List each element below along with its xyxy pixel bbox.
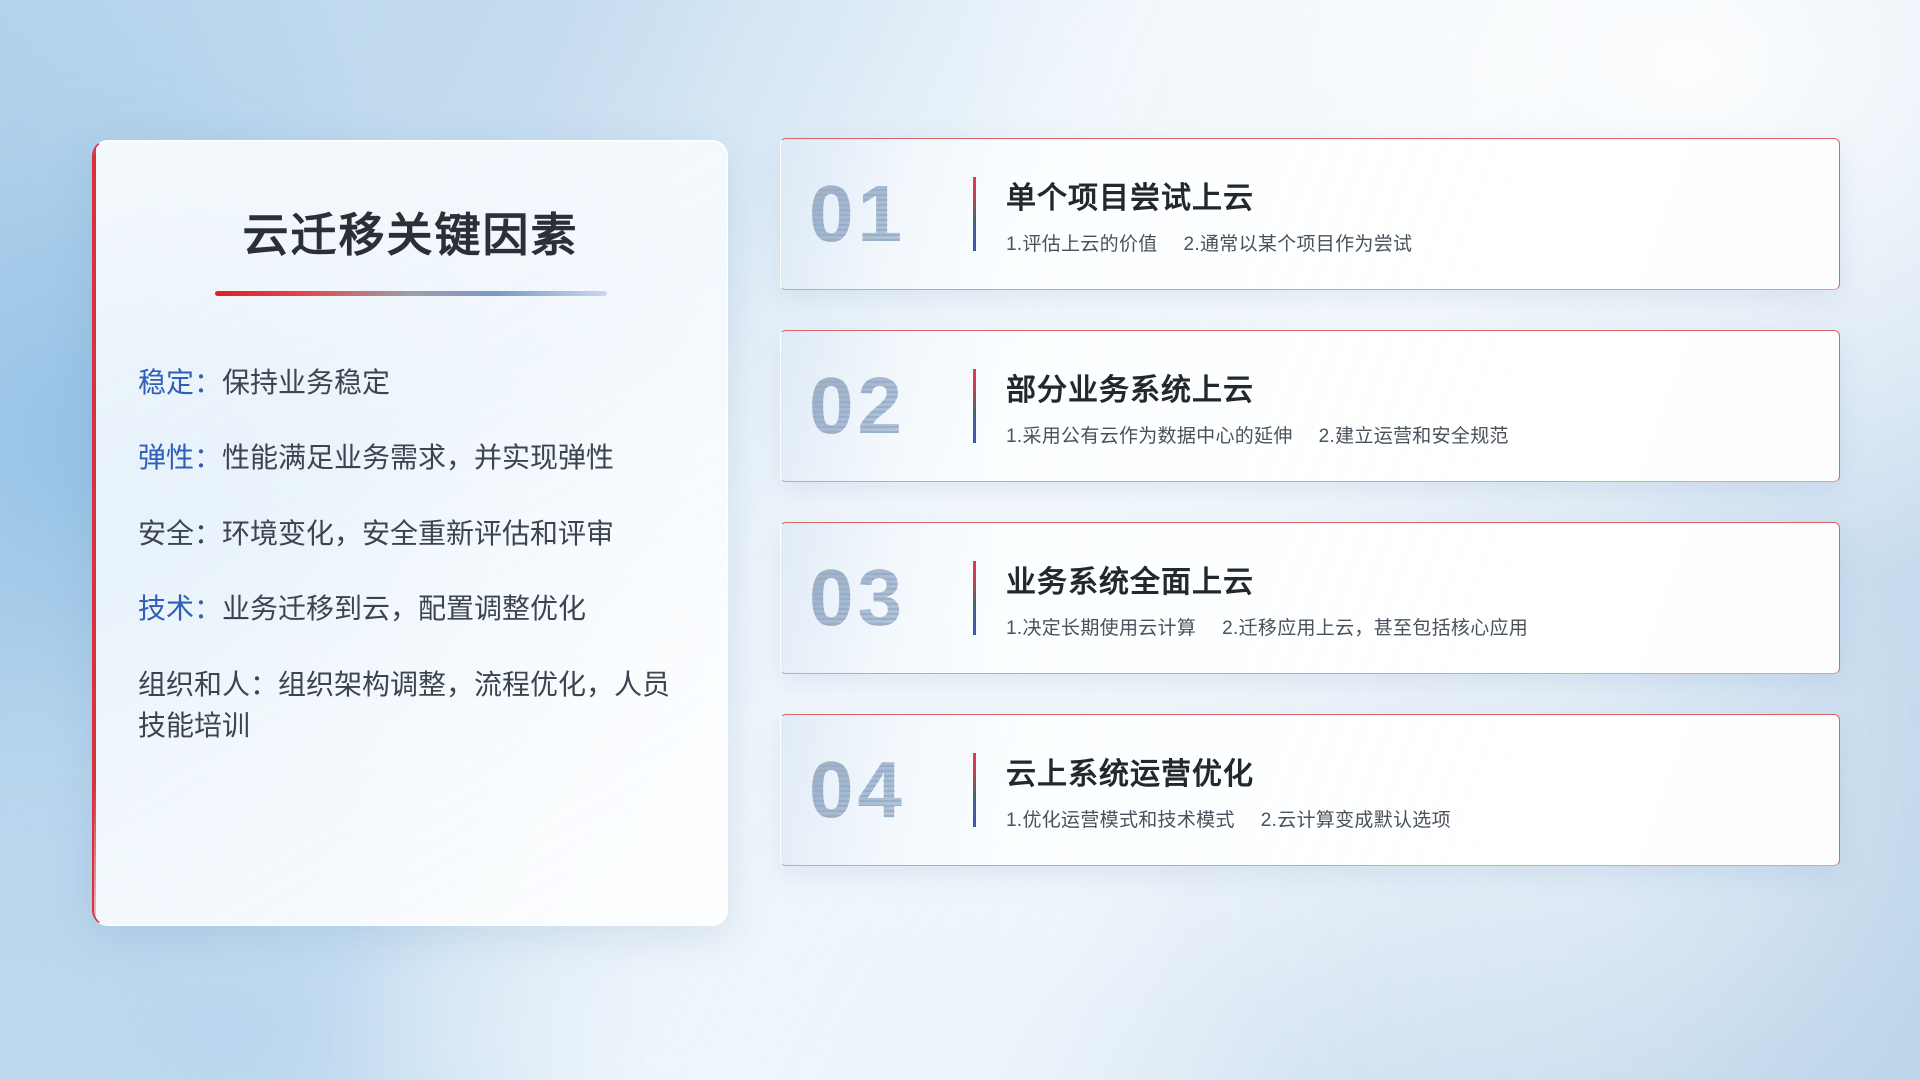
step-number: 01 — [781, 174, 973, 254]
step-point: 2.迁移应用上云，甚至包括核心应用 — [1222, 618, 1528, 639]
step-card-02[interactable]: 02 部分业务系统上云 1.采用公有云作为数据中心的延伸2.建立运营和安全规范 — [780, 330, 1840, 482]
step-point: 1.评估上云的价值 — [1006, 234, 1158, 255]
step-card-01[interactable]: 01 单个项目尝试上云 1.评估上云的价值2.通常以某个项目作为尝试 — [780, 138, 1840, 290]
step-point: 2.通常以某个项目作为尝试 — [1184, 234, 1413, 255]
step-description: 1.采用公有云作为数据中心的延伸2.建立运营和安全规范 — [1006, 421, 1813, 448]
step-description: 1.评估上云的价值2.通常以某个项目作为尝试 — [1006, 229, 1813, 256]
step-body: 单个项目尝试上云 1.评估上云的价值2.通常以某个项目作为尝试 — [1006, 173, 1839, 256]
factor-list: 稳定：保持业务稳定 弹性：性能满足业务需求，并实现弹性 安全：环境变化，安全重新… — [94, 362, 727, 747]
step-title: 单个项目尝试上云 — [1006, 173, 1813, 217]
step-card-03[interactable]: 03 业务系统全面上云 1.决定长期使用云计算2.迁移应用上云，甚至包括核心应用 — [780, 522, 1840, 674]
step-number: 04 — [781, 750, 973, 830]
step-point: 2.云计算变成默认选项 — [1261, 810, 1451, 831]
factor-label: 技术： — [138, 593, 222, 624]
list-item: 技术：业务迁移到云，配置调整优化 — [138, 588, 683, 629]
factor-text: 保持业务稳定 — [222, 367, 390, 398]
title-underline-rule — [215, 291, 607, 296]
step-point: 1.采用公有云作为数据中心的延伸 — [1006, 426, 1293, 447]
slide-canvas: 云迁移关键因素 稳定：保持业务稳定 弹性：性能满足业务需求，并实现弹性 安全：环… — [0, 0, 1920, 1080]
step-divider — [973, 369, 976, 443]
key-factors-panel: 云迁移关键因素 稳定：保持业务稳定 弹性：性能满足业务需求，并实现弹性 安全：环… — [92, 140, 728, 926]
page-title: 云迁移关键因素 — [94, 199, 727, 265]
factor-label: 弹性： — [138, 442, 222, 473]
step-divider — [973, 177, 976, 251]
factor-label: 稳定： — [138, 367, 222, 398]
step-card-04[interactable]: 04 云上系统运营优化 1.优化运营模式和技术模式2.云计算变成默认选项 — [780, 714, 1840, 866]
migration-steps-list: 01 单个项目尝试上云 1.评估上云的价值2.通常以某个项目作为尝试 02 部分… — [780, 138, 1840, 906]
factor-label: 组织和人： — [138, 669, 278, 700]
step-number: 03 — [781, 558, 973, 638]
step-body: 业务系统全面上云 1.决定长期使用云计算2.迁移应用上云，甚至包括核心应用 — [1006, 557, 1839, 640]
step-description: 1.决定长期使用云计算2.迁移应用上云，甚至包括核心应用 — [1006, 613, 1813, 640]
step-divider — [973, 753, 976, 827]
list-item: 安全：环境变化，安全重新评估和评审 — [138, 513, 683, 554]
step-body: 部分业务系统上云 1.采用公有云作为数据中心的延伸2.建立运营和安全规范 — [1006, 365, 1839, 448]
step-body: 云上系统运营优化 1.优化运营模式和技术模式2.云计算变成默认选项 — [1006, 749, 1839, 832]
step-title: 部分业务系统上云 — [1006, 365, 1813, 409]
factor-text: 性能满足业务需求，并实现弹性 — [222, 442, 614, 473]
list-item: 弹性：性能满足业务需求，并实现弹性 — [138, 437, 683, 478]
step-point: 1.优化运营模式和技术模式 — [1006, 810, 1235, 831]
step-number: 02 — [781, 366, 973, 446]
step-point: 1.决定长期使用云计算 — [1006, 618, 1196, 639]
step-description: 1.优化运营模式和技术模式2.云计算变成默认选项 — [1006, 805, 1813, 832]
step-title: 云上系统运营优化 — [1006, 749, 1813, 793]
step-title: 业务系统全面上云 — [1006, 557, 1813, 601]
step-point: 2.建立运营和安全规范 — [1319, 426, 1509, 447]
step-divider — [973, 561, 976, 635]
list-item: 稳定：保持业务稳定 — [138, 362, 683, 403]
factor-label: 安全： — [138, 518, 222, 549]
factor-text: 环境变化，安全重新评估和评审 — [222, 518, 614, 549]
factor-text: 业务迁移到云，配置调整优化 — [222, 593, 586, 624]
list-item: 组织和人：组织架构调整，流程优化，人员技能培训 — [138, 664, 683, 747]
